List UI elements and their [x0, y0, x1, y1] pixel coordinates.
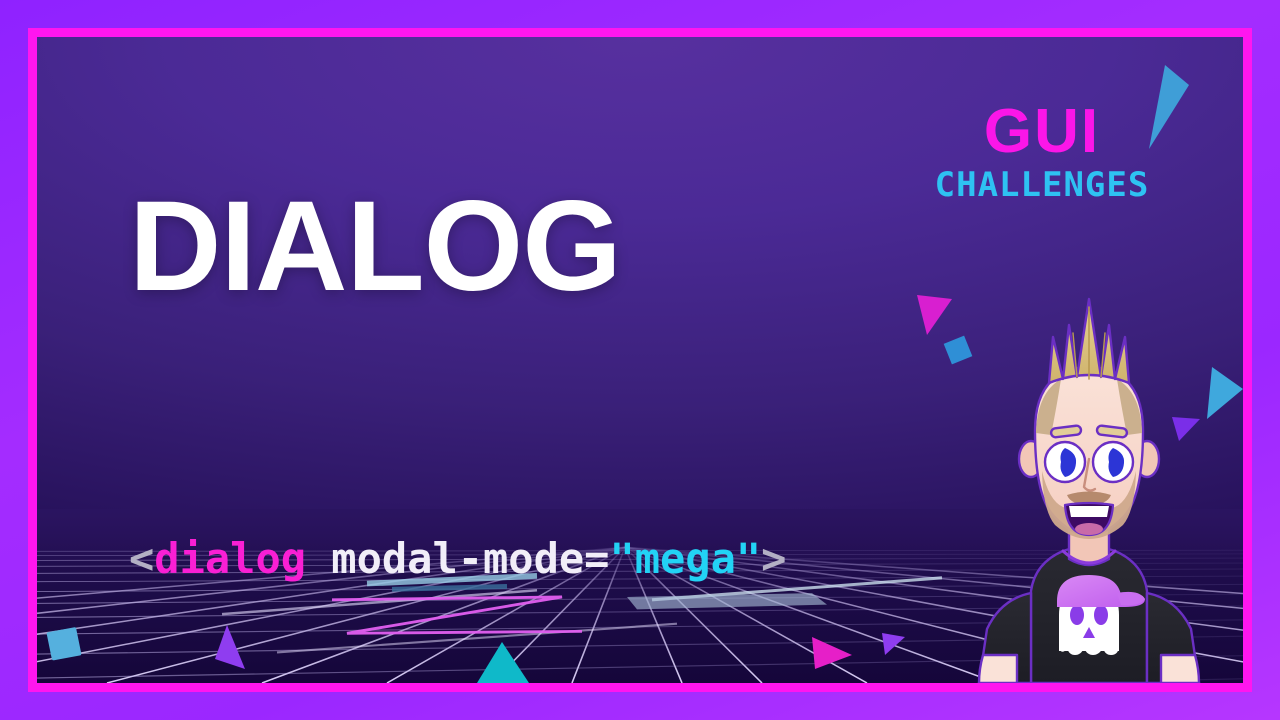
right-arm [1161, 655, 1199, 683]
code-line-1: <dialog modal-mode="mega"> [129, 533, 786, 586]
tongue [1075, 523, 1103, 535]
brand-logo: GUI CHALLENGES [897, 103, 1187, 202]
left-arm [979, 655, 1017, 683]
brand-gui-text: GUI [897, 103, 1187, 162]
avatar [939, 263, 1239, 683]
right-eyebrow [1097, 425, 1128, 438]
magenta-frame-border: DIALOG <dialog modal-mode="mega"> <dialo… [28, 28, 1252, 692]
brand-challenges-text: CHALLENGES [897, 168, 1187, 202]
teeth [1069, 506, 1109, 517]
slide-stage: DIALOG <dialog modal-mode="mega"> <dialo… [37, 37, 1243, 683]
slide-canvas: DIALOG <dialog modal-mode="mega"> <dialo… [0, 0, 1280, 720]
page-title: DIALOG [129, 183, 621, 311]
left-eyebrow [1051, 425, 1082, 438]
code-open-bracket: < [129, 534, 154, 583]
code-attribute-name: modal-mode= [306, 534, 609, 583]
code-tag-name: dialog [154, 534, 306, 583]
code-close-bracket: > [761, 534, 786, 583]
code-attribute-value: "mega" [609, 534, 761, 583]
skull-right-eye [1094, 605, 1108, 625]
skull-left-eye [1070, 605, 1084, 625]
code-snippet: <dialog modal-mode="mega"> <dialog modal… [129, 427, 786, 683]
